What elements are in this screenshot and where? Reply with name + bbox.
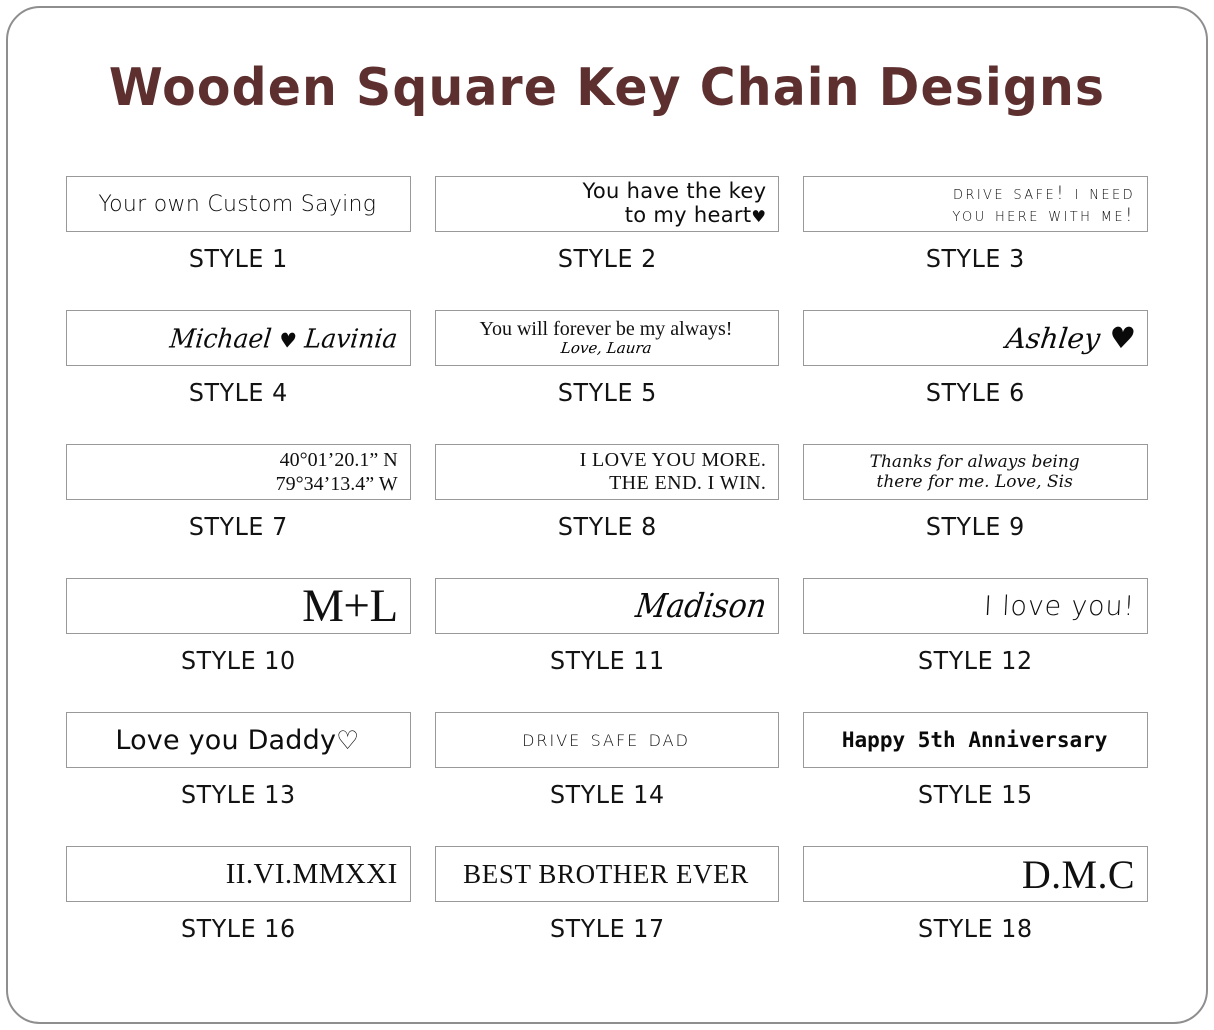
- heart-solid-icon: ♥: [278, 328, 298, 352]
- page-title: Wooden Square Key Chain Designs: [36, 62, 1177, 114]
- design-cell-12[interactable]: I love you! STYLE 12: [803, 578, 1148, 712]
- plaque-text-line: You will forever be my always!: [480, 319, 733, 340]
- keychain-plaque-2[interactable]: You have the key to my heart♥: [435, 176, 780, 232]
- heart-outline-icon: ♡: [336, 726, 359, 756]
- keychain-plaque-6[interactable]: Ashley ♥: [803, 310, 1148, 366]
- keychain-plaque-18[interactable]: D.M.C: [803, 846, 1148, 902]
- plaque-name-first: Michael: [169, 323, 274, 353]
- keychain-plaque-14[interactable]: Drive Safe Dad: [435, 712, 780, 768]
- plaque-name: Ashley: [1004, 322, 1102, 355]
- design-cell-5[interactable]: You will forever be my always! Love, Lau…: [435, 310, 780, 444]
- keychain-plaque-3[interactable]: Drive safe! I need you here with me!: [803, 176, 1148, 232]
- design-cell-8[interactable]: I LOVE YOU MORE. THE END. I WIN. STYLE 8: [435, 444, 780, 578]
- style-label: STYLE 18: [812, 914, 1139, 943]
- plaque-text-line: You have the key: [583, 180, 767, 204]
- style-label: STYLE 8: [443, 512, 770, 541]
- plaque-text-line-2: Love, Laura: [560, 340, 653, 357]
- plaque-name: Madison: [633, 587, 769, 626]
- plaque-text-line: Thanks for always being: [870, 452, 1080, 472]
- style-label: STYLE 5: [443, 378, 770, 407]
- design-cell-3[interactable]: Drive safe! I need you here with me! STY…: [803, 176, 1148, 310]
- plaque-text-line: BEST BROTHER EVER: [463, 859, 749, 890]
- style-label: STYLE 10: [75, 646, 402, 675]
- style-label: STYLE 1: [75, 244, 402, 273]
- keychain-plaque-1[interactable]: Your own Custom Saying: [66, 176, 411, 232]
- design-cell-4[interactable]: Michael ♥ Lavinia STYLE 4: [66, 310, 411, 444]
- style-label: STYLE 14: [443, 780, 770, 809]
- plaque-text-line-2: to my heart♥: [625, 204, 767, 228]
- style-label: STYLE 17: [443, 914, 770, 943]
- plaque-monogram: D.M.C: [1022, 851, 1135, 898]
- keychain-plaque-16[interactable]: II.VI.MMXXI: [66, 846, 411, 902]
- design-grid: Your own Custom Saying STYLE 1 You have …: [66, 176, 1148, 980]
- plaque-roman-numeral-date: II.VI.MMXXI: [226, 858, 398, 891]
- plaque-text-line: Your own Custom Saying: [98, 192, 376, 217]
- plaque-text-line-2-text: to my heart: [625, 203, 752, 227]
- design-cell-18[interactable]: D.M.C STYLE 18: [803, 846, 1148, 980]
- design-cell-17[interactable]: BEST BROTHER EVER STYLE 17: [435, 846, 780, 980]
- style-label: STYLE 9: [812, 512, 1139, 541]
- plaque-text-line: Happy 5th Anniversary: [842, 728, 1108, 752]
- plaque-name-second: Lavinia: [303, 323, 399, 353]
- design-cell-14[interactable]: Drive Safe Dad STYLE 14: [435, 712, 780, 846]
- design-cell-16[interactable]: II.VI.MMXXI STYLE 16: [66, 846, 411, 980]
- keychain-plaque-11[interactable]: Madison: [435, 578, 780, 634]
- design-cell-11[interactable]: Madison STYLE 11: [435, 578, 780, 712]
- keychain-plaque-8[interactable]: I LOVE YOU MORE. THE END. I WIN.: [435, 444, 780, 500]
- plaque-text-line: I love you!: [983, 591, 1136, 622]
- plaque-text-line: Ashley ♥: [1004, 322, 1137, 355]
- heart-solid-icon: ♥: [751, 207, 766, 226]
- style-label: STYLE 3: [812, 244, 1139, 273]
- style-label: STYLE 12: [812, 646, 1139, 675]
- plaque-text-line: Love you Daddy♡: [115, 725, 359, 756]
- style-label: STYLE 13: [75, 780, 402, 809]
- plaque-coordinate-latitude: 40°01’20.1” N: [280, 448, 398, 472]
- design-cell-9[interactable]: Thanks for always being there for me. Lo…: [803, 444, 1148, 578]
- plaque-text-line: Michael ♥ Lavinia: [169, 323, 400, 353]
- plaque-monogram: M+L: [302, 584, 398, 629]
- design-cell-2[interactable]: You have the key to my heart♥ STYLE 2: [435, 176, 780, 310]
- plaque-coordinate-longitude: 79°34’13.4” W: [276, 472, 398, 496]
- style-label: STYLE 15: [812, 780, 1139, 809]
- design-cell-10[interactable]: M+L STYLE 10: [66, 578, 411, 712]
- plaque-text-line-2: you here with me!: [952, 204, 1135, 226]
- style-label: STYLE 16: [75, 914, 402, 943]
- design-cell-13[interactable]: Love you Daddy♡ STYLE 13: [66, 712, 411, 846]
- style-label: STYLE 2: [443, 244, 770, 273]
- plaque-text-line-2: there for me. Love, Sis: [877, 472, 1073, 492]
- style-label: STYLE 7: [75, 512, 402, 541]
- keychain-plaque-13[interactable]: Love you Daddy♡: [66, 712, 411, 768]
- keychain-plaque-12[interactable]: I love you!: [803, 578, 1148, 634]
- keychain-plaque-15[interactable]: Happy 5th Anniversary: [803, 712, 1148, 768]
- heart-solid-icon: ♥: [1107, 321, 1138, 355]
- design-cell-7[interactable]: 40°01’20.1” N 79°34’13.4” W STYLE 7: [66, 444, 411, 578]
- design-cell-6[interactable]: Ashley ♥ STYLE 6: [803, 310, 1148, 444]
- keychain-plaque-5[interactable]: You will forever be my always! Love, Lau…: [435, 310, 780, 366]
- design-cell-15[interactable]: Happy 5th Anniversary STYLE 15: [803, 712, 1148, 846]
- plaque-text-line: Drive Safe Dad: [522, 726, 690, 753]
- keychain-plaque-10[interactable]: M+L: [66, 578, 411, 634]
- plaque-text: Love you Daddy: [115, 725, 336, 756]
- plaque-text-line: Drive safe! I need: [953, 182, 1135, 204]
- keychain-plaque-17[interactable]: BEST BROTHER EVER: [435, 846, 780, 902]
- style-label: STYLE 11: [443, 646, 770, 675]
- keychain-plaque-9[interactable]: Thanks for always being there for me. Lo…: [803, 444, 1148, 500]
- style-label: STYLE 4: [75, 378, 402, 407]
- product-design-chart: Wooden Square Key Chain Designs Your own…: [0, 0, 1214, 1030]
- keychain-plaque-7[interactable]: 40°01’20.1” N 79°34’13.4” W: [66, 444, 411, 500]
- plaque-text-line: I LOVE YOU MORE.: [580, 449, 767, 472]
- keychain-plaque-4[interactable]: Michael ♥ Lavinia: [66, 310, 411, 366]
- style-label: STYLE 6: [812, 378, 1139, 407]
- plaque-text-line-2: THE END. I WIN.: [609, 472, 766, 495]
- design-cell-1[interactable]: Your own Custom Saying STYLE 1: [66, 176, 411, 310]
